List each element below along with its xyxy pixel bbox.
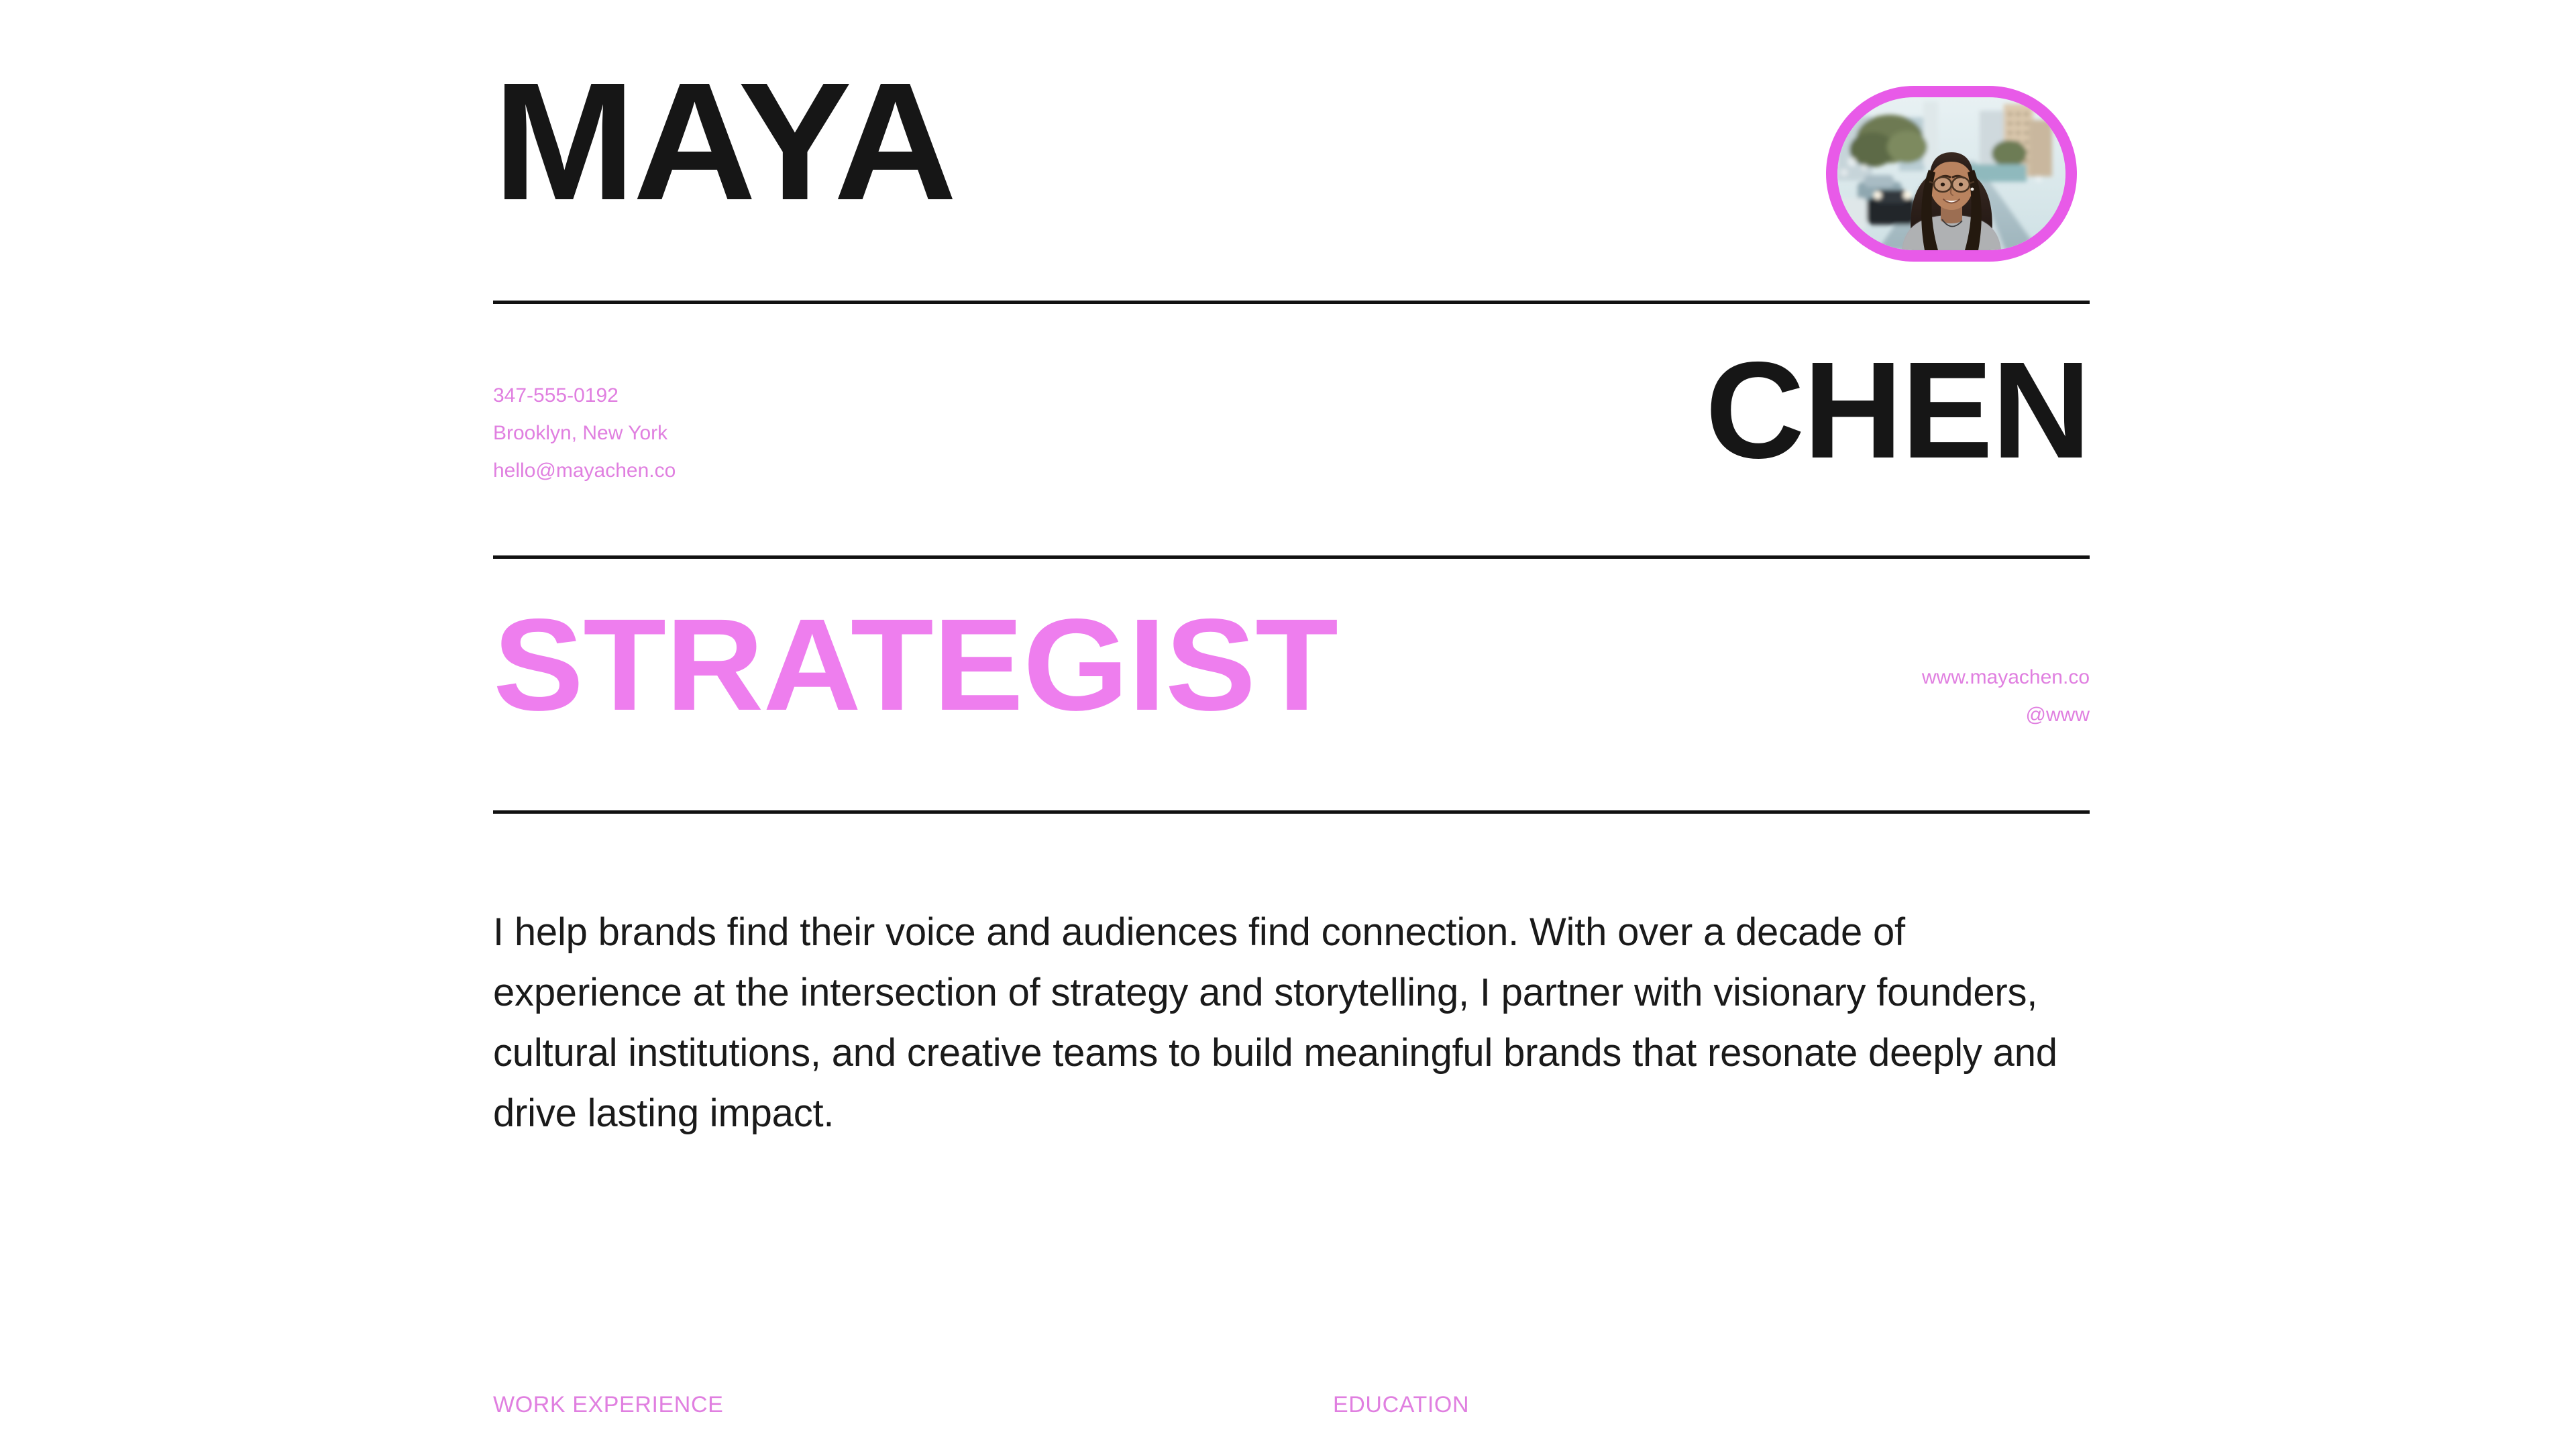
resume-page: MAYA — [0, 0, 2576, 1449]
portrait-photo-icon — [1837, 97, 2065, 250]
job-title: STRATEGIST — [493, 610, 1338, 720]
contact-item-location: Brooklyn, New York — [493, 415, 676, 452]
resume-content-column: MAYA — [493, 0, 2090, 1449]
divider-rule-1 — [493, 301, 2090, 304]
divider-rule-3 — [493, 810, 2090, 814]
contact-item-email[interactable]: hello@mayachen.co — [493, 452, 676, 490]
bio-paragraph: I help brands find their voice and audie… — [493, 902, 2096, 1144]
avatar — [1826, 86, 2077, 262]
page-title-first-name: MAYA — [493, 72, 955, 210]
divider-rule-2 — [493, 555, 2090, 559]
contact-item-phone[interactable]: 347-555-0192 — [493, 377, 676, 415]
section-heading-education: EDUCATION — [1333, 1390, 1469, 1419]
section-heading-work-experience: WORK EXPERIENCE — [493, 1390, 723, 1419]
contact-list: 347-555-0192 Brooklyn, New York hello@ma… — [493, 377, 676, 490]
link-social-handle[interactable]: @www — [1922, 696, 2090, 734]
page-title-last-name: CHEN — [1705, 354, 2090, 467]
link-website[interactable]: www.mayachen.co — [1922, 659, 2090, 696]
links-list: www.mayachen.co @www — [1922, 659, 2090, 734]
